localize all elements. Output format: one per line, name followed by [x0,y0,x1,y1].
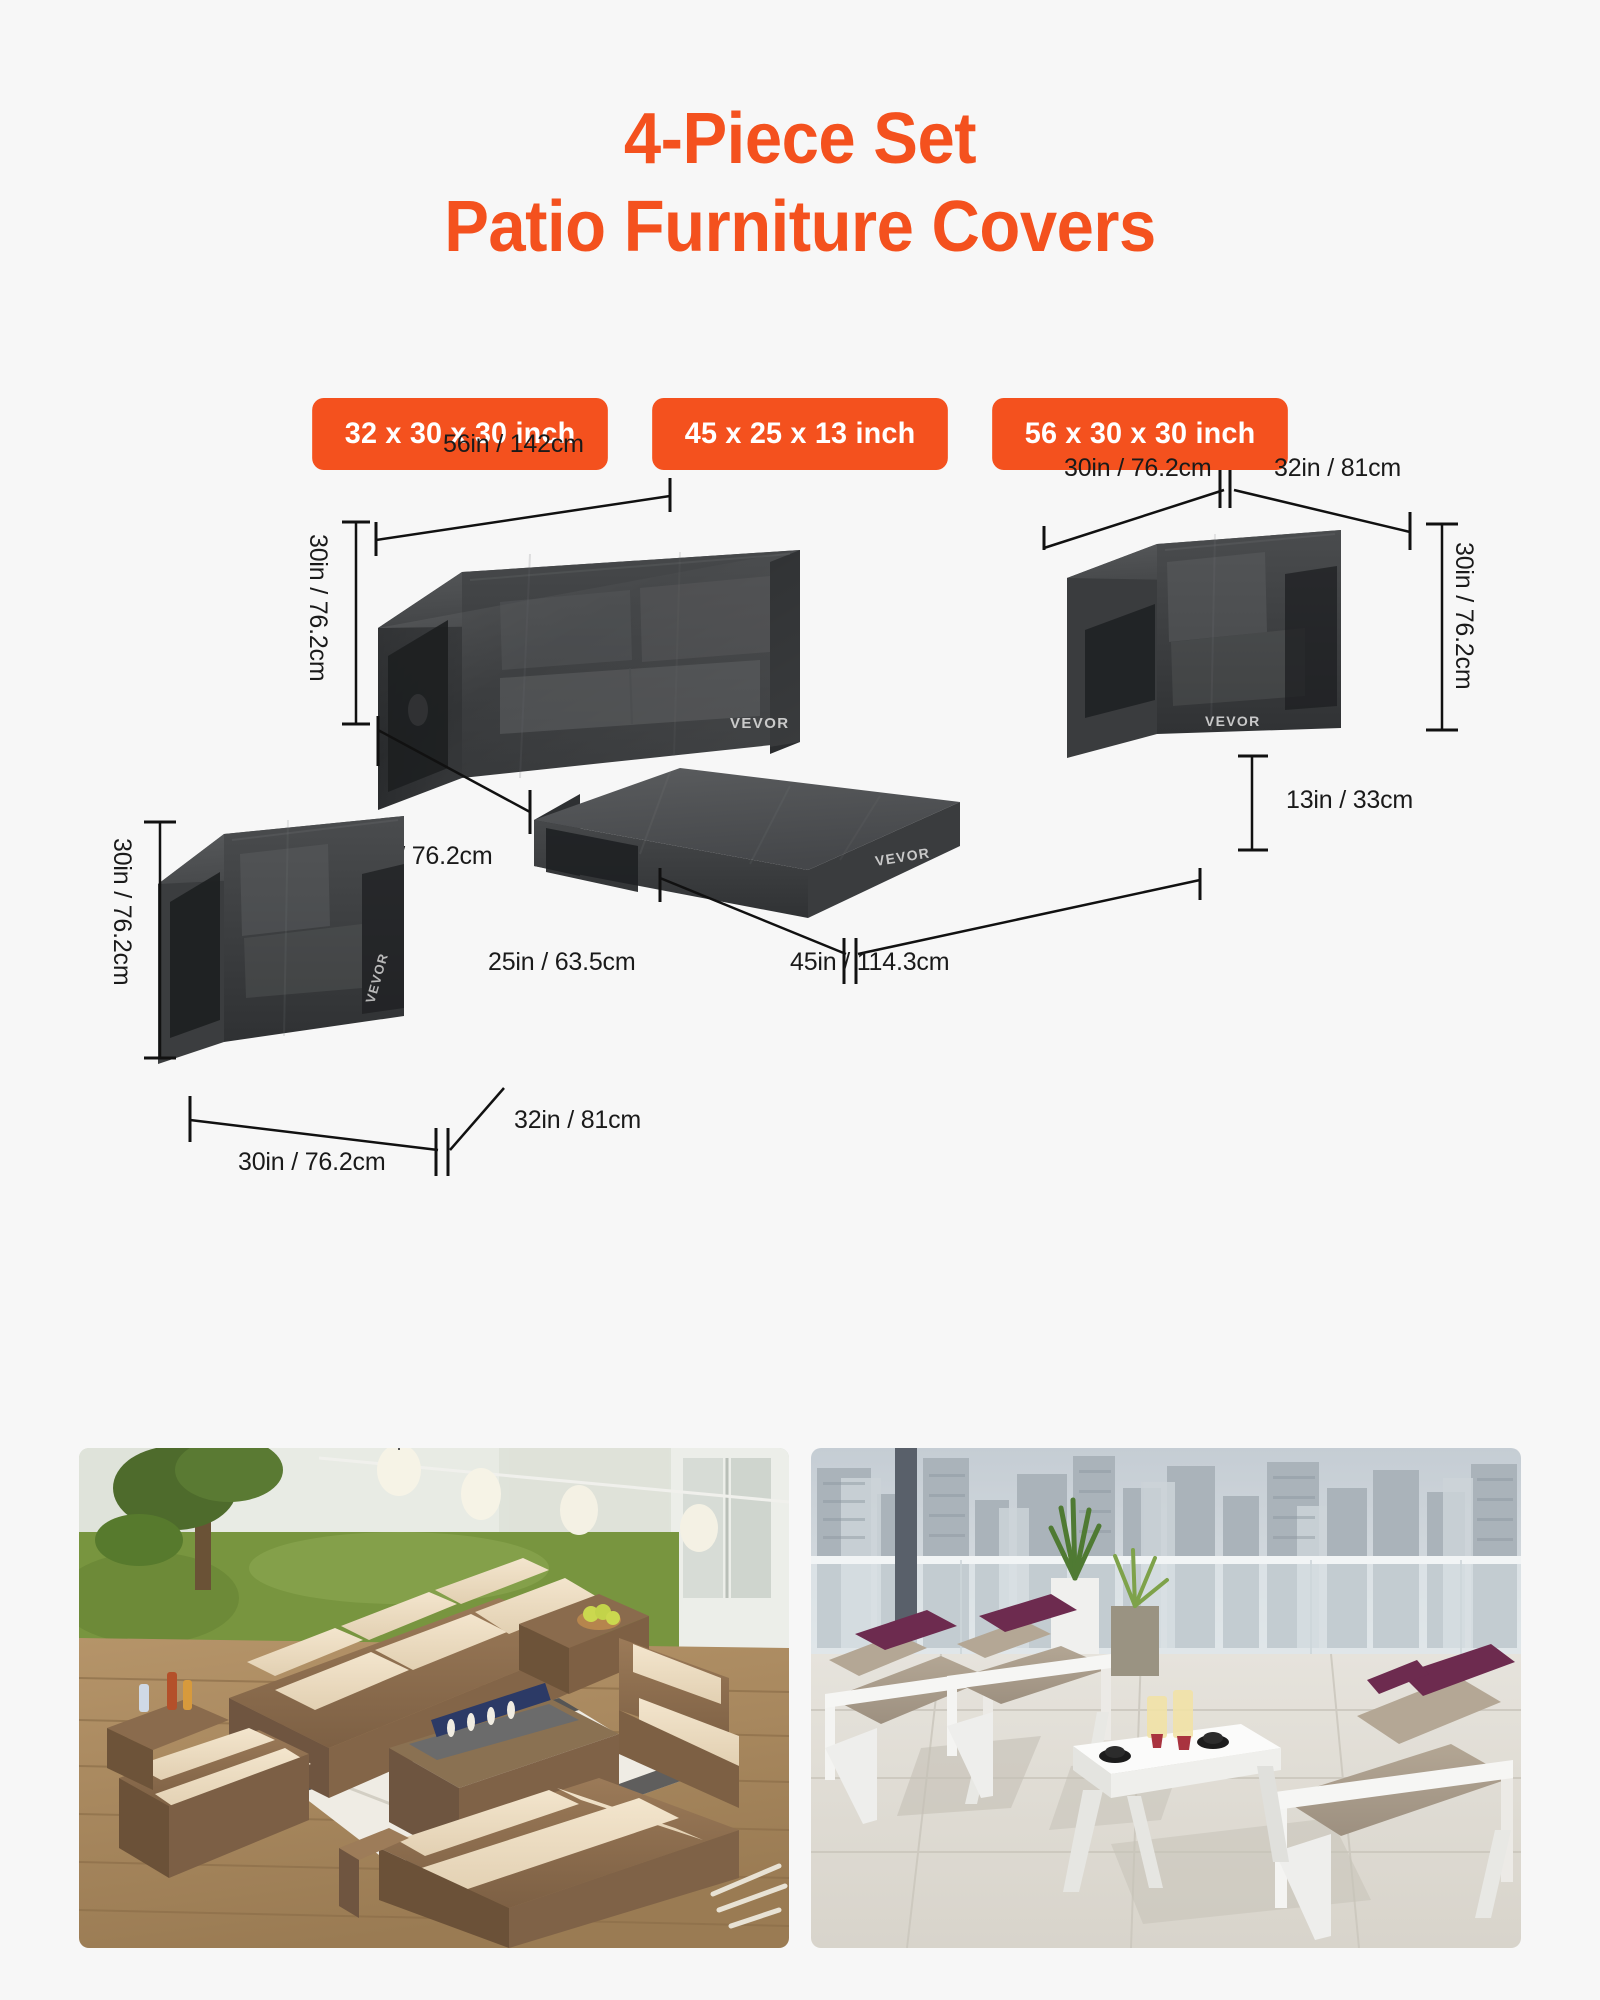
armchair-right-width-label: 32in / 81cm [1274,454,1401,483]
sofa-height-dimension-line [336,518,376,728]
page-header: 4-Piece Set Patio Furniture Covers [0,96,1600,272]
armchair-right-height-label: 30in / 76.2cm [1449,542,1478,690]
table-depth-label: 25in / 63.5cm [488,948,636,977]
armchair-left-height-dimension-line [140,816,180,1066]
page-title-line-2: Patio Furniture Covers [56,184,1544,272]
vevor-watermark-sofa: VEVOR [730,715,790,732]
photo-rooftop-terrace-set [811,1448,1521,1948]
lifestyle-photo-row [0,1448,1600,1968]
table-width-label: 45in / 114.3cm [790,948,949,977]
photo-wicker-deck-set [79,1448,789,1948]
vevor-watermark-armchair-right: VEVOR [1205,713,1261,729]
armchair-left-height-label: 30in / 76.2cm [107,838,136,986]
page-title-line-1: 4-Piece Set [56,96,1544,184]
armchair-left-bottom-dimension-lines [168,1076,628,1216]
armchair-left-width-label: 30in / 76.2cm [238,1148,386,1177]
dimension-diagram: VEVOR 56in / 142cm 30in / 76.2cm 30in / … [0,520,1600,1440]
table-height-label: 13in / 33cm [1286,786,1413,815]
sofa-width-label: 56in / 142cm [443,430,584,459]
armchair-left-depth-label: 32in / 81cm [514,1106,641,1135]
product-infographic: 4-Piece Set Patio Furniture Covers 32 x … [0,0,1600,2000]
armchair-right-depth-label: 30in / 76.2cm [1064,454,1212,483]
table-height-dimension-line [1236,750,1276,860]
armchair-left-cover-illustration: VEVOR [148,792,478,1122]
sofa-height-label: 30in / 76.2cm [303,534,332,682]
table-bottom-dimension-lines [600,868,1240,998]
